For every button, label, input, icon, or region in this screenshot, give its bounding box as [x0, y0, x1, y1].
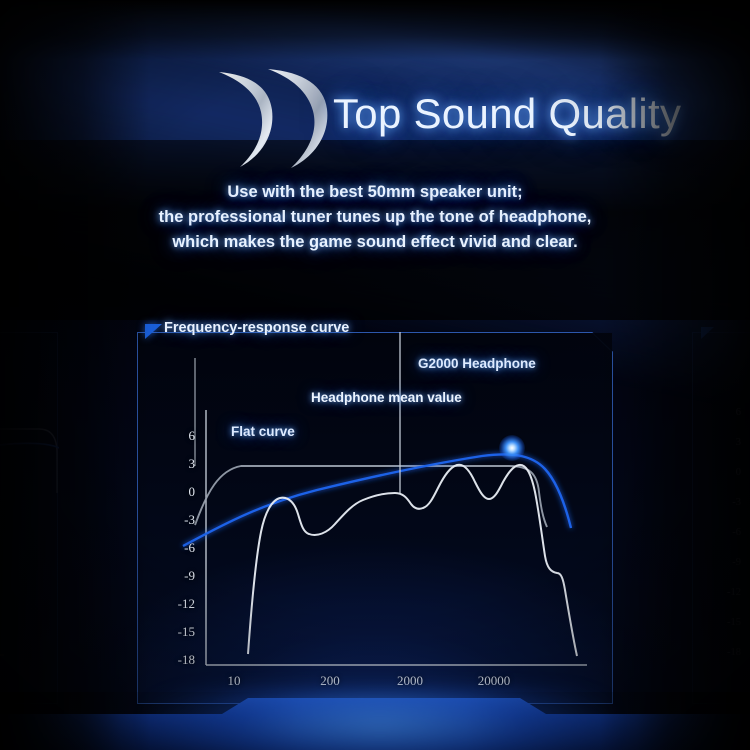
label-flat-curve: Flat curve [231, 424, 295, 439]
page-root: Top Sound Quality Use with the best 50mm… [0, 0, 750, 750]
carousel-panel-previous[interactable]: 2000 00 [0, 332, 58, 704]
y-axis-tick: -6 [161, 540, 195, 556]
hero-section: Top Sound Quality Use with the best 50mm… [0, 0, 750, 300]
carousel-panel-next-content: 6 3 0 -3 -6 -9 -12 -15 -18 平 10 [693, 333, 750, 703]
y-axis-tick: 0 [161, 484, 195, 500]
stage-edge-fade [0, 692, 750, 750]
x-axis-tick: 2000 [384, 673, 436, 689]
frequency-response-panel: Frequency-response curve [137, 332, 613, 704]
g2000-marker-glow-dot [499, 435, 525, 461]
series-headphone-mean-value [248, 465, 577, 656]
subtitle-line-1: Use with the best 50mm speaker unit; [0, 180, 750, 205]
carousel-panel-next[interactable]: 6 3 0 -3 -6 -9 -12 -15 -18 平 10 [692, 332, 750, 704]
frequency-response-chart [137, 332, 613, 704]
carousel-prev-chart [0, 333, 59, 705]
label-headphone-mean-value: Headphone mean value [311, 390, 462, 405]
y-axis-tick: -15 [161, 624, 195, 640]
x-axis-tick: 20000 [464, 673, 524, 689]
x-axis-tick: 10 [216, 673, 252, 689]
y-axis-tick: 3 [161, 456, 195, 472]
y-axis-tick: -12 [161, 596, 195, 612]
carousel-panel-previous-content: 2000 00 [0, 333, 57, 703]
page-title: Top Sound Quality [333, 90, 681, 138]
carousel-next-chart: 平 [693, 333, 750, 705]
y-axis-tick: -9 [161, 568, 195, 584]
y-axis-tick: 6 [161, 428, 195, 444]
y-axis-tick: -3 [161, 512, 195, 528]
x-axis-tick: 200 [308, 673, 352, 689]
dual-crescent-swoosh-logo-icon [214, 66, 336, 170]
subtitle-line-3: which makes the game sound effect vivid … [0, 230, 750, 255]
label-g2000-headphone: G2000 Headphone [418, 356, 536, 371]
hero-subtitle: Use with the best 50mm speaker unit; the… [0, 180, 750, 255]
subtitle-line-2: the professional tuner tunes up the tone… [0, 205, 750, 230]
y-axis-tick: -18 [161, 652, 195, 668]
